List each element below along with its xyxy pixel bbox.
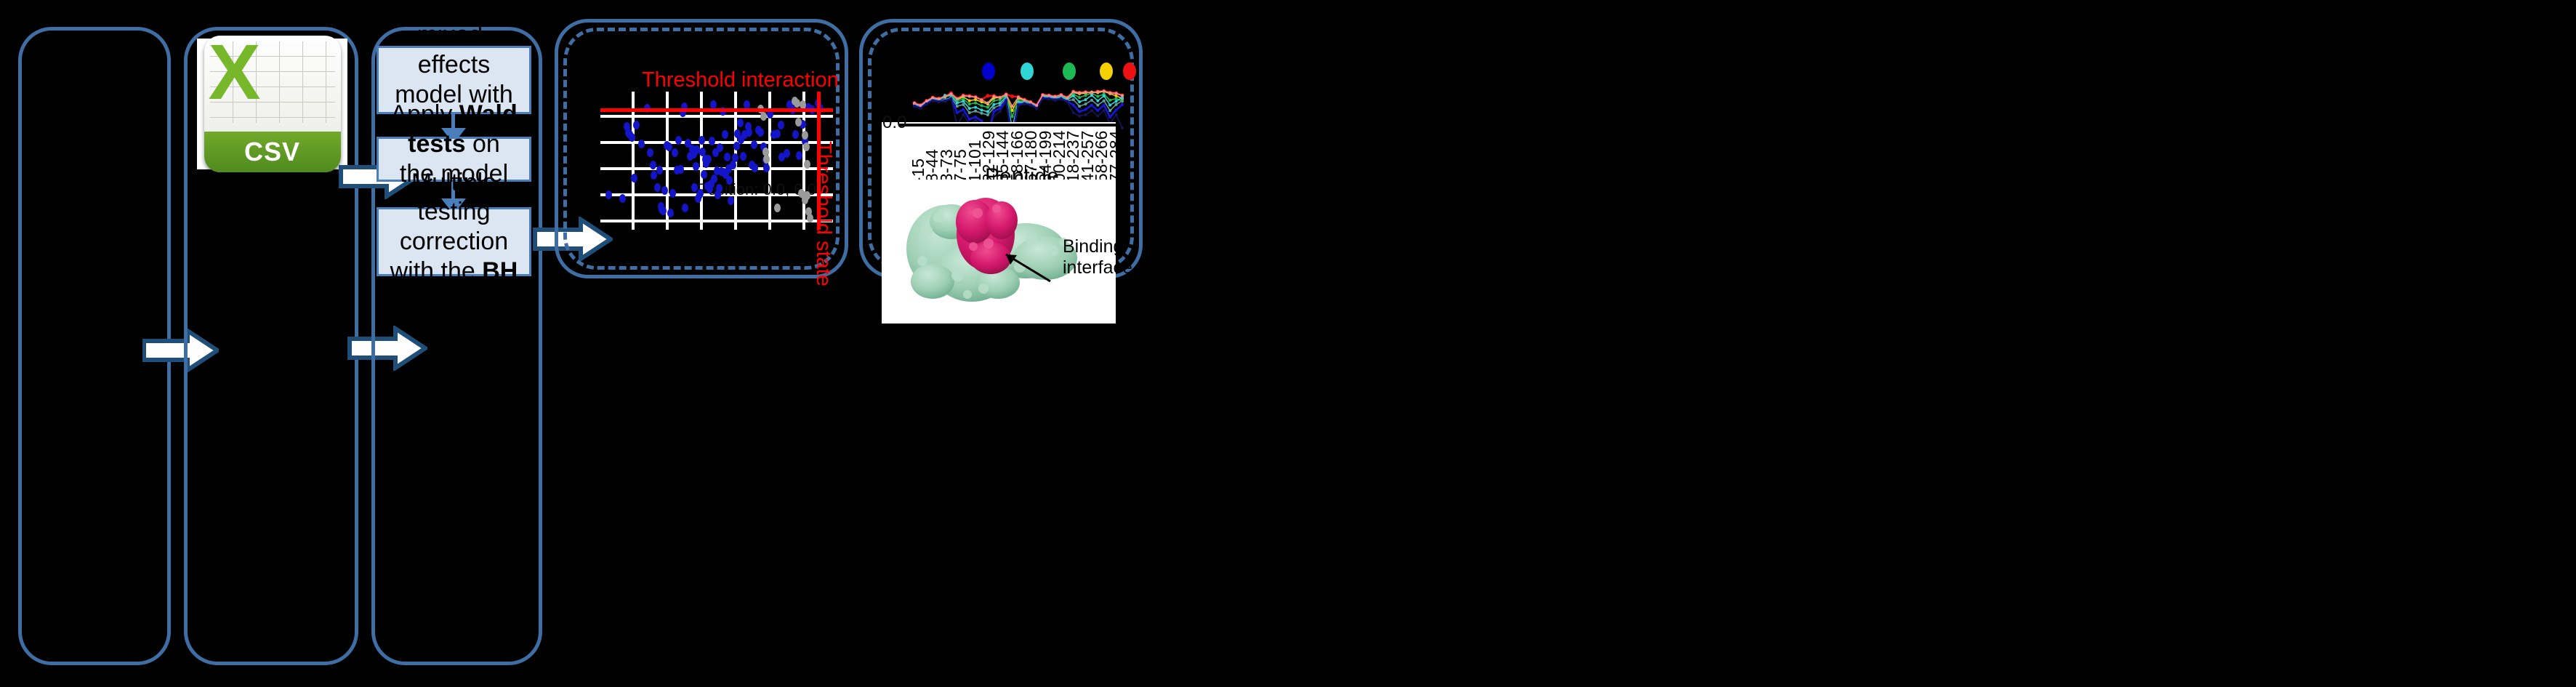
line-point bbox=[1121, 126, 1124, 129]
line-point bbox=[968, 107, 971, 110]
legend-dot-cyan bbox=[1021, 63, 1034, 80]
scatter-point bbox=[722, 130, 728, 139]
line-point bbox=[956, 105, 959, 108]
threshold-interaction-line bbox=[600, 108, 833, 112]
line-point bbox=[1072, 90, 1075, 93]
csv-label: CSV bbox=[244, 137, 300, 167]
scatter-point bbox=[795, 118, 802, 126]
line-point bbox=[1084, 94, 1087, 97]
csv-band: CSV bbox=[204, 132, 341, 172]
scatter-point bbox=[701, 170, 707, 179]
line-point bbox=[968, 103, 971, 105]
binding-interface-line1: Binding bbox=[1063, 236, 1132, 257]
line-point bbox=[1023, 103, 1026, 105]
line-point bbox=[1042, 94, 1045, 97]
legend-dot-blue bbox=[982, 63, 995, 80]
line-point bbox=[1121, 103, 1124, 106]
line-point bbox=[1078, 92, 1081, 95]
line-point bbox=[1108, 92, 1111, 95]
line-point bbox=[1115, 92, 1118, 95]
scatter-point bbox=[784, 149, 790, 158]
line-point bbox=[992, 111, 995, 113]
line-point bbox=[986, 111, 989, 113]
line-point bbox=[949, 92, 952, 95]
line-point bbox=[1103, 109, 1106, 112]
line-point bbox=[1029, 100, 1032, 103]
scatter-point bbox=[631, 174, 637, 182]
line-point bbox=[1005, 93, 1007, 96]
scatter-point bbox=[669, 189, 676, 198]
line-point bbox=[1115, 100, 1118, 103]
peptide-y-origin-label: 0.0 bbox=[882, 113, 906, 133]
flowbox-multiple-testing-text: Multiple testingcorrectionwith the BH pr… bbox=[386, 168, 522, 316]
line-point bbox=[992, 103, 995, 106]
line-point bbox=[1115, 108, 1118, 111]
line-point bbox=[1053, 95, 1056, 98]
line-point bbox=[1115, 103, 1118, 106]
line-point bbox=[999, 111, 1002, 113]
scatter-point bbox=[760, 112, 767, 121]
line-point bbox=[968, 111, 971, 114]
line-point bbox=[919, 107, 922, 110]
line-point bbox=[1084, 103, 1087, 105]
line-point bbox=[968, 95, 971, 98]
line-point bbox=[925, 100, 928, 103]
line-point bbox=[974, 119, 977, 122]
line-point bbox=[1090, 99, 1093, 102]
line-point bbox=[956, 97, 959, 100]
scatter-point bbox=[650, 161, 656, 169]
flowbox-multiple-testing[interactable]: Multiple testingcorrectionwith the BH pr… bbox=[377, 207, 531, 276]
excel-x-icon: X bbox=[209, 36, 261, 111]
scatter-point bbox=[778, 121, 784, 129]
scatter-point bbox=[774, 204, 781, 212]
scatter-point bbox=[693, 162, 699, 171]
line-point bbox=[938, 100, 941, 103]
line-point bbox=[1084, 108, 1087, 111]
line-point bbox=[1103, 89, 1106, 92]
line-point bbox=[931, 96, 934, 99]
line-point bbox=[1078, 100, 1081, 103]
line-point bbox=[1103, 95, 1106, 97]
line-point bbox=[992, 115, 995, 118]
scatter-point bbox=[774, 129, 781, 138]
line-point bbox=[962, 95, 965, 97]
legend-dot-yellow bbox=[1100, 63, 1113, 80]
line-point bbox=[1096, 90, 1099, 93]
line-point bbox=[1072, 104, 1075, 107]
line-point bbox=[992, 95, 995, 98]
line-point bbox=[938, 97, 941, 100]
line-point bbox=[1090, 109, 1093, 112]
line-point bbox=[1096, 95, 1099, 98]
line-point bbox=[1103, 100, 1106, 103]
line-point bbox=[925, 103, 928, 105]
line-point bbox=[1115, 113, 1118, 116]
line-point bbox=[974, 116, 977, 118]
line-point bbox=[1023, 98, 1026, 101]
line-point bbox=[981, 108, 983, 111]
line-point bbox=[1090, 104, 1093, 107]
threshold-scatter-chart: Threshold interaction Position: 0.0, 0.0… bbox=[600, 70, 833, 230]
line-point bbox=[1035, 104, 1038, 107]
line-point bbox=[968, 100, 971, 103]
scatter-point bbox=[633, 121, 640, 129]
scatter-grid bbox=[600, 92, 833, 230]
line-point bbox=[1084, 113, 1087, 116]
line-point bbox=[1047, 94, 1050, 97]
line-point bbox=[962, 103, 965, 106]
scatter-point bbox=[728, 196, 734, 205]
line-point bbox=[1011, 115, 1014, 118]
line-point bbox=[1121, 100, 1124, 103]
csv-file-card: X CSV bbox=[197, 39, 347, 169]
line-point bbox=[992, 100, 995, 103]
scatter-point bbox=[803, 142, 810, 151]
line-point bbox=[999, 96, 1002, 99]
scatter-point bbox=[654, 183, 661, 192]
line-point bbox=[1084, 91, 1087, 94]
scatter-point bbox=[672, 148, 678, 157]
line-point bbox=[931, 100, 934, 103]
line-point bbox=[962, 113, 965, 116]
line-point bbox=[913, 105, 916, 108]
line-point bbox=[1096, 104, 1099, 107]
scatter-point bbox=[699, 136, 705, 145]
line-point bbox=[981, 104, 983, 107]
scatter-point bbox=[675, 136, 682, 145]
line-point bbox=[943, 100, 946, 103]
line-point bbox=[1066, 96, 1068, 99]
legend-dot-green bbox=[1063, 63, 1076, 80]
line-point bbox=[1096, 100, 1099, 103]
line-point bbox=[962, 100, 965, 103]
legend-dot-red bbox=[1123, 63, 1136, 80]
line-point bbox=[1108, 109, 1111, 112]
scatter-point bbox=[726, 176, 733, 185]
line-point bbox=[986, 102, 989, 105]
threshold-interaction-label: Threshold interaction bbox=[642, 68, 839, 92]
line-point bbox=[1060, 94, 1063, 97]
line-point bbox=[1029, 104, 1032, 107]
line-point bbox=[1072, 95, 1075, 97]
line-point bbox=[1060, 97, 1063, 100]
scatter-point bbox=[716, 184, 723, 193]
line-point bbox=[919, 104, 922, 107]
scatter-point bbox=[638, 140, 645, 148]
scatter-point bbox=[804, 191, 810, 200]
line-point bbox=[1096, 109, 1099, 112]
line-point bbox=[1053, 99, 1056, 102]
line-point bbox=[962, 108, 965, 111]
scatter-point bbox=[647, 148, 653, 157]
scatter-plot-area: Position: 0.0, 0.0 bbox=[600, 92, 833, 230]
line-point bbox=[949, 97, 952, 100]
line-point bbox=[1084, 98, 1087, 101]
line-point bbox=[986, 106, 989, 109]
line-point bbox=[1017, 96, 1020, 99]
line-point bbox=[956, 111, 959, 114]
line-point bbox=[986, 113, 989, 116]
line-point bbox=[974, 110, 977, 113]
line-point bbox=[974, 102, 977, 105]
line-point bbox=[1005, 100, 1007, 103]
line-point bbox=[1108, 116, 1111, 118]
line-point bbox=[1096, 115, 1099, 118]
line-point bbox=[986, 94, 989, 97]
line-point bbox=[943, 95, 946, 98]
line-point bbox=[1047, 97, 1050, 100]
line-point bbox=[974, 106, 977, 109]
line-point bbox=[968, 118, 971, 121]
scatter-point bbox=[752, 164, 758, 172]
line-point bbox=[1078, 115, 1081, 118]
scatter-point bbox=[751, 140, 757, 149]
line-point bbox=[974, 96, 977, 99]
threshold-state-label: Threshold state bbox=[811, 141, 835, 286]
line-point bbox=[1090, 92, 1093, 95]
scatter-point bbox=[802, 131, 808, 140]
line-point bbox=[992, 106, 995, 109]
line-point bbox=[1078, 105, 1081, 108]
line-point bbox=[1078, 96, 1081, 99]
line-point bbox=[981, 112, 983, 115]
scatter-point bbox=[737, 118, 744, 127]
line-point bbox=[1072, 98, 1075, 101]
scatter-point bbox=[697, 189, 704, 198]
line-point bbox=[1103, 104, 1106, 107]
peptide-axis-line bbox=[898, 124, 1116, 126]
line-point bbox=[1017, 104, 1020, 107]
line-point bbox=[981, 98, 983, 101]
line-point bbox=[1011, 105, 1014, 108]
line-point bbox=[1078, 111, 1081, 113]
line-point bbox=[1108, 99, 1111, 102]
binding-interface-line2: interface bbox=[1063, 257, 1132, 278]
scatter-point bbox=[629, 133, 635, 142]
line-point bbox=[1121, 94, 1124, 97]
line-point bbox=[1035, 107, 1038, 110]
scatter-point bbox=[605, 190, 612, 199]
scatter-point bbox=[661, 186, 668, 195]
scatter-point bbox=[667, 209, 674, 217]
line-point bbox=[1108, 104, 1111, 107]
scatter-point bbox=[682, 204, 688, 212]
csv-file-icon: X CSV bbox=[204, 36, 341, 172]
line-point bbox=[1072, 111, 1075, 114]
line-point bbox=[1010, 95, 1014, 98]
line-point bbox=[913, 102, 916, 105]
binding-interface-label: Binding interface bbox=[1063, 236, 1132, 278]
line-point bbox=[1115, 97, 1118, 100]
line-point bbox=[1066, 100, 1068, 103]
